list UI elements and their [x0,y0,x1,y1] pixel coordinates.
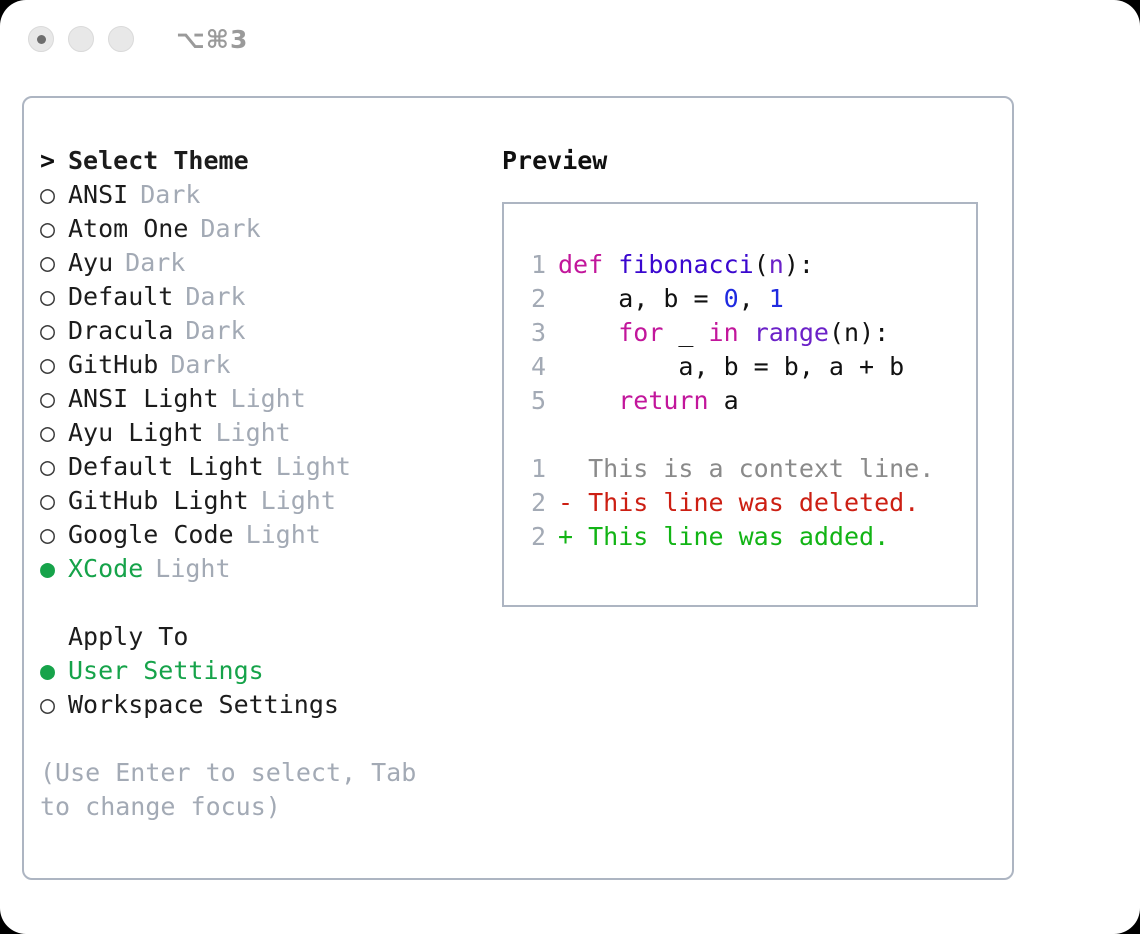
keyboard-hint: (Use Enter to select, Tab to change focu… [40,756,440,824]
theme-name-label: ANSI [68,178,128,212]
code-token-plain: , [739,282,769,316]
apply-to-options: ●User Settings○Workspace Settings [40,654,492,722]
diff-sign [558,452,573,486]
radio-unselected-icon: ○ [40,178,68,212]
code-token-kw: in [709,316,739,350]
theme-list-item[interactable]: ○Atom OneDark [40,212,492,246]
code-line-number: 4 [518,350,546,384]
window-dot-minimize[interactable] [68,26,94,52]
select-theme-title: Select Theme [68,144,249,178]
app-window: ⌥⌘3 > Select Theme ○ANSIDark○Atom OneDar… [0,0,1140,934]
diff-text: This is a context line. [573,452,934,486]
theme-variant-label: Light [215,416,290,450]
diff-sign: + [558,520,573,554]
theme-variant-label: Dark [185,280,245,314]
apply-to-option-label: User Settings [68,654,264,688]
code-line-number: 3 [518,316,546,350]
diff-line: 1 This is a context line. [504,452,976,486]
window-dot-close-inner [37,35,46,44]
theme-name-label: XCode [68,552,143,586]
code-sample: 1def fibonacci(n):2 a, b = 0, 13 for _ i… [504,248,976,418]
title-bar: ⌥⌘3 [0,0,1140,78]
preview-title: Preview [502,144,1012,178]
diff-line: 2+ This line was added. [504,520,976,554]
theme-name-label: Dracula [68,314,173,348]
radio-unselected-icon: ○ [40,314,68,348]
theme-list-item[interactable]: ○GitHubDark [40,348,492,382]
code-token-plain: ( [754,248,769,282]
theme-name-label: Google Code [68,518,234,552]
code-line: 2 a, b = 0, 1 [504,282,976,316]
code-line: 4 a, b = b, a + b [504,350,976,384]
theme-variant-label: Light [261,484,336,518]
main-card: > Select Theme ○ANSIDark○Atom OneDark○Ay… [22,96,1014,880]
theme-name-label: Default Light [68,450,264,484]
theme-variant-label: Dark [185,314,245,348]
radio-selected-icon: ● [40,654,68,688]
theme-list-item[interactable]: ●XCodeLight [40,552,492,586]
window-controls [28,26,134,52]
apply-to-header: Apply To [40,620,492,654]
code-line-number: 5 [518,384,546,418]
code-token-plain: a [709,384,739,418]
theme-variant-label: Light [246,518,321,552]
code-token-plain [558,316,618,350]
code-line-number: 1 [518,248,546,282]
diff-line-number: 2 [518,520,546,554]
code-token-plain: (n): [829,316,889,350]
code-token-fn: fibonacci [618,248,753,282]
theme-name-label: ANSI Light [68,382,219,416]
theme-name-label: Ayu Light [68,416,203,450]
code-line: 1def fibonacci(n): [504,248,976,282]
radio-unselected-icon: ○ [40,280,68,314]
diff-sign: - [558,486,573,520]
radio-unselected-icon: ○ [40,484,68,518]
code-token-plain [558,384,618,418]
theme-list-item[interactable]: ○GitHub LightLight [40,484,492,518]
radio-unselected-icon: ○ [40,246,68,280]
theme-variant-label: Dark [170,348,230,382]
theme-selection-panel: > Select Theme ○ANSIDark○Atom OneDark○Ay… [24,98,492,878]
code-token-num: 0 [724,282,739,316]
radio-unselected-icon: ○ [40,518,68,552]
radio-unselected-icon: ○ [40,382,68,416]
theme-name-label: Ayu [68,246,113,280]
code-token-plain: _ [663,316,708,350]
diff-line: 2- This line was deleted. [504,486,976,520]
theme-variant-label: Light [231,382,306,416]
code-token-kw: return [618,384,708,418]
radio-unselected-icon: ○ [40,688,68,722]
code-token-num: 1 [769,282,784,316]
theme-list-item[interactable]: ○DraculaDark [40,314,492,348]
diff-text: This line was added. [573,520,889,554]
diff-line-number: 1 [518,452,546,486]
theme-name-label: Atom One [68,212,188,246]
radio-unselected-icon: ○ [40,212,68,246]
apply-to-title: Apply To [68,620,188,654]
apply-to-option-label: Workspace Settings [68,688,339,722]
theme-name-label: GitHub Light [68,484,249,518]
theme-variant-label: Light [155,552,230,586]
radio-unselected-icon: ○ [40,348,68,382]
diff-sample: 1 This is a context line.2- This line wa… [504,452,976,554]
apply-to-option[interactable]: ●User Settings [40,654,492,688]
code-token-plain [739,316,754,350]
window-dot-maximize[interactable] [108,26,134,52]
code-token-plain: a, b = [558,282,724,316]
code-line-number: 2 [518,282,546,316]
code-token-plain: ): [784,248,814,282]
theme-variant-label: Dark [200,212,260,246]
radio-unselected-icon: ○ [40,416,68,450]
radio-selected-icon: ● [40,552,68,586]
theme-variant-label: Dark [125,246,185,280]
theme-name-label: Default [68,280,173,314]
theme-variant-label: Dark [140,178,200,212]
theme-list: ○ANSIDark○Atom OneDark○AyuDark○DefaultDa… [40,178,492,586]
code-token-var: range [754,316,829,350]
section-spacer [40,586,492,620]
code-token-kw: def [558,248,618,282]
radio-unselected-icon: ○ [40,450,68,484]
window-dot-close[interactable] [28,26,54,52]
diff-text: This line was deleted. [573,486,919,520]
theme-list-item[interactable]: ○Google CodeLight [40,518,492,552]
theme-list-item[interactable]: ○AyuDark [40,246,492,280]
theme-list-item[interactable]: ○ANSI LightLight [40,382,492,416]
theme-list-item[interactable]: ○Ayu LightLight [40,416,492,450]
theme-variant-label: Light [276,450,351,484]
diff-line-number: 2 [518,486,546,520]
preview-box: 1def fibonacci(n):2 a, b = 0, 13 for _ i… [502,202,978,607]
theme-list-item[interactable]: ○ANSIDark [40,178,492,212]
select-theme-header: > Select Theme [40,144,492,178]
code-token-kw: for [618,316,663,350]
theme-list-item[interactable]: ○Default LightLight [40,450,492,484]
code-diff-spacer [504,418,976,452]
theme-name-label: GitHub [68,348,158,382]
prompt-caret-icon: > [40,144,68,178]
code-line: 3 for _ in range(n): [504,316,976,350]
keyboard-shortcut-label: ⌥⌘3 [176,25,248,54]
apply-to-option[interactable]: ○Workspace Settings [40,688,492,722]
preview-panel: Preview 1def fibonacci(n):2 a, b = 0, 13… [492,98,1012,878]
theme-list-item[interactable]: ○DefaultDark [40,280,492,314]
code-token-var: n [769,248,784,282]
code-line: 5 return a [504,384,976,418]
code-token-plain: a, b = b, a + b [558,350,904,384]
